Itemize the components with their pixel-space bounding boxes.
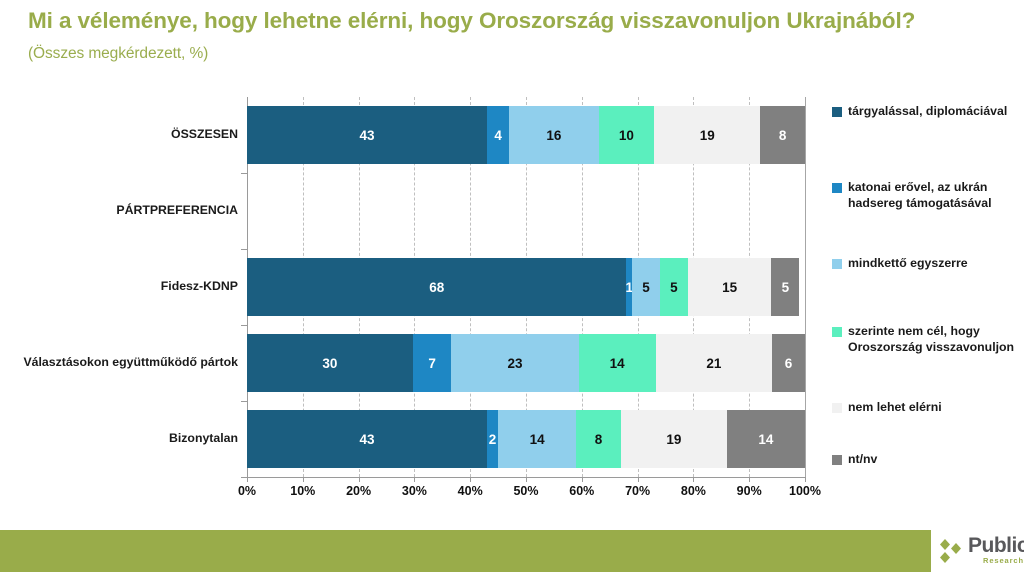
stacked-bar-row: 3072314216 bbox=[247, 334, 805, 392]
x-axis-tick bbox=[414, 477, 415, 482]
bar-value-label: 5 bbox=[642, 280, 650, 295]
gridline bbox=[805, 97, 806, 477]
bar-segment: 21 bbox=[656, 334, 772, 392]
x-axis-tick-label: 10% bbox=[273, 484, 333, 498]
y-axis-tick bbox=[241, 325, 247, 326]
legend-label: szerinte nem cél, hogy Oroszország vissz… bbox=[848, 324, 1018, 355]
category-label-2: PÁRTPREFERENCIA bbox=[0, 203, 238, 217]
bar-value-label: 15 bbox=[722, 280, 737, 295]
stacked-bar-row: 68155155 bbox=[247, 258, 805, 316]
logo-subtext: Research bbox=[983, 556, 1024, 565]
bar-value-label: 5 bbox=[670, 280, 678, 295]
legend-item-3[interactable]: mindkettő egyszerre bbox=[832, 256, 968, 272]
x-axis-tick bbox=[470, 477, 471, 482]
bar-value-label: 19 bbox=[666, 432, 681, 447]
publicus-logo: Publicus Research bbox=[936, 531, 1024, 573]
category-label-4: Választásokon együttműködő pártok bbox=[0, 355, 238, 369]
bar-value-label: 6 bbox=[785, 356, 793, 371]
bar-segment: 43 bbox=[247, 106, 487, 164]
diamond-logo-icon bbox=[936, 537, 964, 565]
bar-value-label: 14 bbox=[610, 356, 625, 371]
x-axis-tick bbox=[582, 477, 583, 482]
legend-swatch-icon bbox=[832, 403, 842, 413]
bar-value-label: 19 bbox=[700, 128, 715, 143]
legend-label: nem lehet elérni bbox=[848, 400, 942, 416]
x-axis-tick-label: 40% bbox=[440, 484, 500, 498]
bar-segment: 43 bbox=[247, 410, 487, 468]
chart-area: ÖSSZESEN4341610198PÁRTPREFERENCIAFidesz-… bbox=[0, 86, 1024, 506]
bar-value-label: 4 bbox=[494, 128, 502, 143]
x-axis-tick-label: 70% bbox=[608, 484, 668, 498]
category-label-3: Fidesz-KDNP bbox=[0, 279, 238, 293]
legend-label: nt/nv bbox=[848, 452, 877, 468]
x-axis-tick-label: 100% bbox=[775, 484, 835, 498]
legend-swatch-icon bbox=[832, 455, 842, 465]
bar-value-label: 2 bbox=[489, 432, 497, 447]
x-axis-tick bbox=[693, 477, 694, 482]
bar-segment: 10 bbox=[599, 106, 655, 164]
bar-segment: 14 bbox=[579, 334, 656, 392]
stacked-bar-row: 4321481914 bbox=[247, 410, 805, 468]
x-axis-tick-label: 60% bbox=[552, 484, 612, 498]
footer-bar bbox=[0, 530, 931, 572]
bar-segment: 2 bbox=[487, 410, 498, 468]
y-axis-tick bbox=[241, 401, 247, 402]
legend-label: katonai erővel, az ukrán hadsereg támoga… bbox=[848, 180, 1018, 211]
category-label-1: ÖSSZESEN bbox=[0, 127, 238, 141]
bar-segment: 19 bbox=[621, 410, 727, 468]
bar-segment: 5 bbox=[771, 258, 799, 316]
x-axis-tick-label: 80% bbox=[663, 484, 723, 498]
x-axis-tick bbox=[359, 477, 360, 482]
legend-item-6[interactable]: nt/nv bbox=[832, 452, 877, 468]
legend-swatch-icon bbox=[832, 183, 842, 193]
page-title: Mi a véleménye, hogy lehetne elérni, hog… bbox=[28, 6, 968, 65]
x-axis-tick-label: 20% bbox=[329, 484, 389, 498]
x-axis-tick bbox=[247, 477, 248, 482]
legend-item-4[interactable]: szerinte nem cél, hogy Oroszország vissz… bbox=[832, 324, 1018, 355]
bar-segment: 14 bbox=[727, 410, 805, 468]
legend-label: mindkettő egyszerre bbox=[848, 256, 968, 272]
chart-subtitle-text: (Összes megkérdezett, %) bbox=[28, 45, 208, 62]
bar-segment: 5 bbox=[632, 258, 660, 316]
bar-segment: 5 bbox=[660, 258, 688, 316]
bar-value-label: 8 bbox=[595, 432, 603, 447]
x-axis-tick-label: 30% bbox=[384, 484, 444, 498]
chart-title-text: Mi a véleménye, hogy lehetne elérni, hog… bbox=[28, 8, 915, 33]
legend-item-1[interactable]: tárgyalással, diplomáciával bbox=[832, 104, 1007, 120]
x-axis-tick bbox=[749, 477, 750, 482]
bar-segment: 7 bbox=[413, 334, 452, 392]
bar-segment: 30 bbox=[247, 334, 413, 392]
x-axis-tick bbox=[638, 477, 639, 482]
bar-segment: 68 bbox=[247, 258, 626, 316]
bar-value-label: 10 bbox=[619, 128, 634, 143]
bar-value-label: 7 bbox=[428, 356, 436, 371]
bar-value-label: 21 bbox=[706, 356, 721, 371]
y-axis-tick bbox=[241, 173, 247, 174]
bar-value-label: 14 bbox=[530, 432, 545, 447]
bar-value-label: 23 bbox=[507, 356, 522, 371]
legend-item-5[interactable]: nem lehet elérni bbox=[832, 400, 942, 416]
bar-segment: 16 bbox=[509, 106, 598, 164]
bar-value-label: 14 bbox=[758, 432, 773, 447]
legend-label: tárgyalással, diplomáciával bbox=[848, 104, 1007, 120]
bar-value-label: 8 bbox=[779, 128, 787, 143]
x-axis-tick-label: 90% bbox=[719, 484, 779, 498]
y-axis-tick bbox=[241, 249, 247, 250]
x-axis-tick bbox=[805, 477, 806, 482]
category-label-5: Bizonytalan bbox=[0, 431, 238, 445]
bar-segment: 6 bbox=[772, 334, 805, 392]
bar-segment: 23 bbox=[451, 334, 578, 392]
bar-segment: 8 bbox=[576, 410, 621, 468]
bar-value-label: 5 bbox=[782, 280, 790, 295]
x-axis-tick bbox=[526, 477, 527, 482]
x-axis-tick-label: 0% bbox=[217, 484, 277, 498]
legend-swatch-icon bbox=[832, 107, 842, 117]
logo-wordmark: Publicus bbox=[968, 534, 1024, 558]
title-block: Mi a véleménye, hogy lehetne elérni, hog… bbox=[28, 6, 968, 65]
bar-segment: 15 bbox=[688, 258, 772, 316]
bar-value-label: 43 bbox=[359, 128, 374, 143]
bar-segment: 14 bbox=[498, 410, 576, 468]
bar-value-label: 30 bbox=[322, 356, 337, 371]
bar-value-label: 68 bbox=[429, 280, 444, 295]
stacked-bar-row: 4341610198 bbox=[247, 106, 805, 164]
legend-swatch-icon bbox=[832, 259, 842, 269]
bar-segment: 4 bbox=[487, 106, 509, 164]
bar-value-label: 43 bbox=[359, 432, 374, 447]
bar-segment: 8 bbox=[760, 106, 805, 164]
bar-segment: 19 bbox=[654, 106, 760, 164]
legend-swatch-icon bbox=[832, 327, 842, 337]
x-axis-tick-label: 50% bbox=[496, 484, 556, 498]
bar-value-label: 16 bbox=[546, 128, 561, 143]
legend-item-2[interactable]: katonai erővel, az ukrán hadsereg támoga… bbox=[832, 180, 1018, 211]
x-axis-tick bbox=[303, 477, 304, 482]
